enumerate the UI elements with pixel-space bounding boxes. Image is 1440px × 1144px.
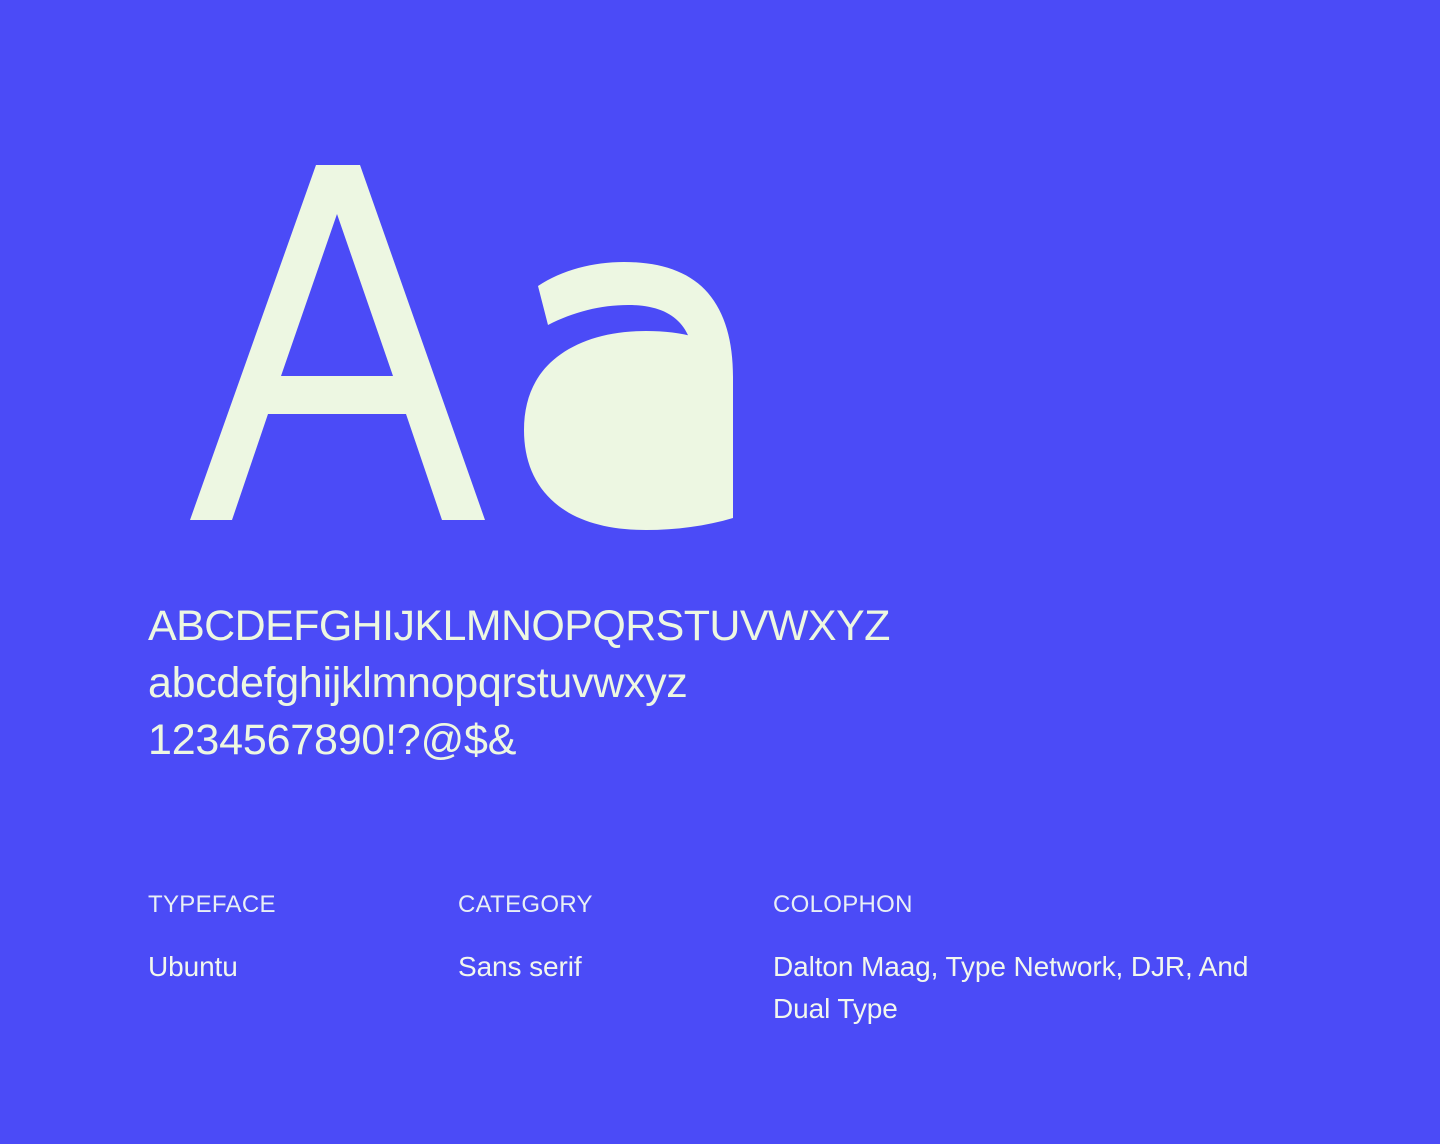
charset-row-lowercase: abcdefghijklmnopqrstuvwxyz (148, 655, 1308, 712)
typeface-label: TYPEFACE (148, 890, 458, 920)
type-specimen-card: ABCDEFGHIJKLMNOPQRSTUVWXYZ abcdefghijklm… (0, 0, 1440, 1144)
category-label: CATEGORY (458, 890, 773, 920)
display-glyph-uppercase-a (190, 165, 485, 520)
category-value: Sans serif (458, 946, 773, 988)
character-set: ABCDEFGHIJKLMNOPQRSTUVWXYZ abcdefghijklm… (148, 598, 1308, 769)
charset-row-uppercase: ABCDEFGHIJKLMNOPQRSTUVWXYZ (148, 598, 1308, 655)
metadata-column-typeface: TYPEFACE Ubuntu (148, 890, 458, 988)
display-glyph-lockup (144, 120, 764, 550)
charset-row-numerals: 1234567890!?@$& (148, 712, 1308, 769)
metadata-column-category: CATEGORY Sans serif (458, 890, 773, 988)
typeface-value: Ubuntu (148, 946, 458, 988)
metadata-column-colophon: COLOPHON Dalton Maag, Type Network, DJR,… (773, 890, 1293, 1030)
display-glyph-lowercase-a (524, 262, 733, 530)
colophon-label: COLOPHON (773, 890, 1293, 920)
metadata-footer: TYPEFACE Ubuntu CATEGORY Sans serif COLO… (148, 890, 1328, 1030)
colophon-value: Dalton Maag, Type Network, DJR, And Dual… (773, 946, 1273, 1030)
